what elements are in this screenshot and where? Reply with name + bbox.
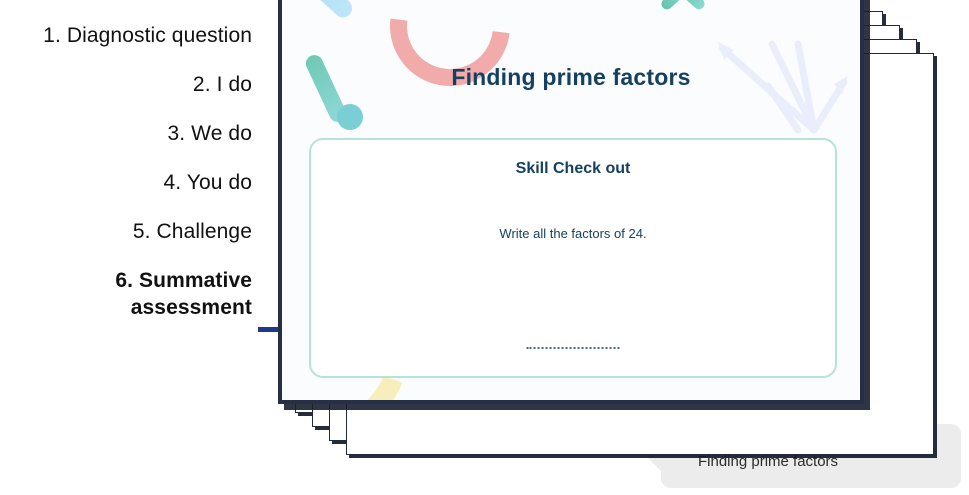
blue-diagonal-stroke-icon: [296, 0, 356, 21]
teal-chevron-up-icon: [660, 0, 704, 26]
lesson-step-list: 1. Diagnostic question 2. I do 3. We do …: [0, 0, 258, 420]
step-item-3[interactable]: 3. We do: [0, 120, 258, 147]
caption-line-2: Finding prime factors: [698, 453, 961, 470]
step-item-4[interactable]: 4. You do: [0, 169, 258, 196]
skill-check-box: Skill Check out Write all the factors of…: [309, 138, 837, 378]
step-item-6[interactable]: 6. Summative assessment: [0, 267, 258, 321]
skill-check-heading: Skill Check out: [311, 160, 835, 178]
slide-title: Finding prime factors: [282, 64, 860, 91]
step-item-2[interactable]: 2. I do: [0, 71, 258, 98]
skill-check-question: Write all the factors of 24.: [311, 226, 835, 241]
step-item-5[interactable]: 5. Challenge: [0, 218, 258, 245]
answer-blank-line[interactable]: [527, 347, 620, 349]
teal-dot-icon: [337, 104, 363, 130]
pink-arc-icon: [366, 0, 534, 110]
arrow-shaft: [258, 327, 280, 332]
step-item-1[interactable]: 1. Diagnostic question: [0, 22, 258, 49]
slide-card-stack[interactable]: n³: [278, 0, 938, 406]
main-slide[interactable]: Finding prime factors Skill Check out Wr…: [278, 0, 864, 404]
